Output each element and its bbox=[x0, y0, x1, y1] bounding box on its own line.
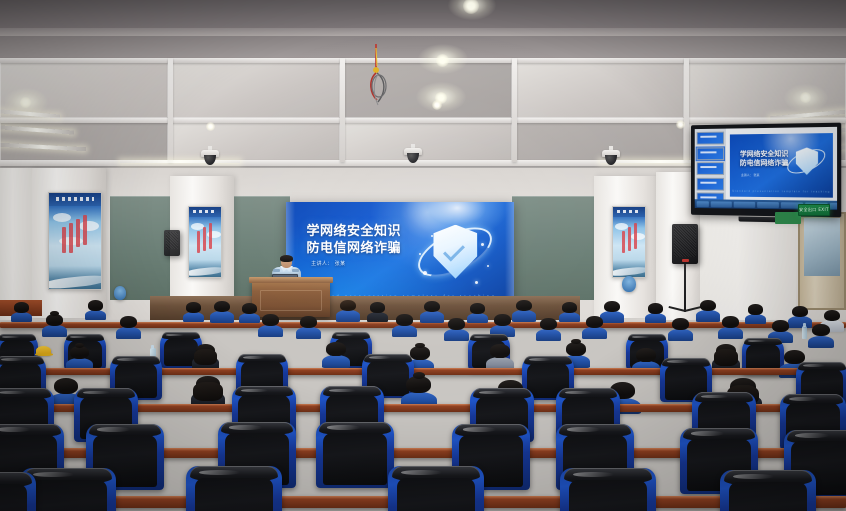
audience-member bbox=[792, 306, 808, 324]
poster-header-band bbox=[189, 207, 221, 217]
seat-highlight bbox=[97, 427, 130, 432]
audience-member bbox=[406, 376, 431, 403]
person-head bbox=[70, 346, 89, 359]
wall-poster-right-1 bbox=[612, 206, 646, 278]
poster-vertical-text bbox=[69, 223, 73, 253]
person-head bbox=[262, 314, 279, 326]
poster-vertical-text bbox=[203, 227, 206, 251]
tv-slide-title-line2: 防电信网络诈骗 bbox=[740, 159, 788, 168]
hanging-cable-bundle bbox=[366, 44, 390, 106]
person-shoulders bbox=[296, 327, 320, 339]
person-head bbox=[636, 348, 656, 362]
person-head bbox=[396, 314, 413, 326]
pa-speaker-right bbox=[672, 224, 698, 264]
yellow-hardhat bbox=[36, 346, 51, 355]
person-shoulders bbox=[42, 325, 66, 337]
person-head bbox=[46, 314, 63, 326]
poster-vertical-text bbox=[628, 227, 631, 251]
person-shoulders bbox=[392, 325, 416, 337]
auditorium-seat[interactable] bbox=[0, 472, 36, 511]
light-flare bbox=[418, 44, 468, 74]
audience-member bbox=[700, 300, 716, 318]
audience-member bbox=[812, 324, 830, 344]
person-head bbox=[340, 300, 356, 311]
person-head bbox=[716, 344, 736, 358]
spark-dot bbox=[431, 235, 433, 237]
audience-member bbox=[716, 344, 736, 366]
person-head bbox=[562, 302, 577, 313]
wall-poster-left-2 bbox=[188, 206, 222, 278]
poster-vertical-text bbox=[76, 219, 80, 247]
ceiling-rib bbox=[168, 58, 173, 162]
person-head bbox=[494, 314, 511, 326]
spark-dot bbox=[475, 281, 478, 284]
person-shoulders bbox=[85, 310, 107, 321]
person-head bbox=[410, 346, 430, 360]
poster-footer-art bbox=[49, 266, 101, 289]
audience-member bbox=[772, 320, 789, 339]
auditorium-photo-scene: 学网络安全知识 防电信网络诈骗 主讲人： 张某 Standard present… bbox=[0, 0, 846, 511]
person-head bbox=[14, 302, 29, 313]
person-shoulders bbox=[258, 325, 282, 337]
audience-member bbox=[540, 318, 557, 337]
audience-member bbox=[494, 314, 511, 333]
poster-vertical-text bbox=[634, 223, 637, 249]
auditorium-seat[interactable] bbox=[388, 466, 484, 511]
person-shoulders bbox=[444, 329, 468, 341]
person-head bbox=[566, 342, 586, 356]
seat-back-pad bbox=[729, 482, 808, 511]
poster-header-band bbox=[613, 207, 645, 217]
seat-back-pad bbox=[323, 433, 387, 485]
poster-cloud bbox=[53, 213, 71, 222]
audience-member bbox=[326, 342, 346, 364]
poster-header-band bbox=[49, 193, 101, 206]
person-shoulders bbox=[600, 311, 623, 322]
seat-highlight bbox=[789, 397, 817, 401]
person-shoulders bbox=[788, 316, 811, 327]
tv-slide-preview: 学网络安全知识 防电信网络诈骗 主讲人： 张某 Standard present… bbox=[730, 133, 833, 198]
slide-title-line2: 防电信网络诈骗 bbox=[307, 240, 402, 257]
seat-highlight bbox=[327, 425, 360, 430]
ceiling-coffer bbox=[172, 62, 340, 118]
speaker-brand-badge bbox=[682, 259, 689, 262]
poster-vertical-text bbox=[209, 223, 212, 249]
slide-presenter-label: 主讲人： 张某 bbox=[311, 260, 345, 267]
person-head bbox=[586, 316, 603, 328]
wall-poster-left-1 bbox=[48, 192, 102, 290]
person-head bbox=[792, 306, 808, 317]
check-icon bbox=[444, 239, 466, 261]
wall-wainscot-panel bbox=[512, 196, 598, 300]
person-head bbox=[214, 301, 230, 312]
person-head bbox=[490, 344, 510, 358]
auditorium-seat[interactable] bbox=[720, 470, 816, 511]
screen-edge-highlight bbox=[505, 202, 514, 306]
back-wall-left bbox=[0, 168, 32, 320]
person-shoulders bbox=[559, 312, 581, 323]
seat-highlight bbox=[0, 427, 30, 432]
seat-back-pad bbox=[29, 480, 108, 511]
tv-slide-footer: Standard presentation template for teach… bbox=[730, 190, 833, 194]
audience-member bbox=[586, 316, 603, 335]
person-head bbox=[242, 303, 257, 314]
door-glass-panel bbox=[804, 218, 840, 276]
seat-highlight bbox=[463, 427, 496, 432]
speaker-grille bbox=[166, 232, 178, 249]
person-shoulders bbox=[808, 336, 834, 348]
person-head bbox=[196, 344, 215, 357]
person-shoulders bbox=[336, 310, 359, 321]
seat-back-pad bbox=[0, 484, 27, 511]
audience-member bbox=[300, 316, 317, 335]
poster-badge-emblem bbox=[114, 286, 126, 300]
ptz-dome-security-camera bbox=[201, 146, 219, 166]
audience-member bbox=[648, 303, 663, 320]
ceiling-coffer bbox=[172, 122, 340, 162]
ceiling-downlight bbox=[206, 122, 215, 131]
slide-title: 学网络安全知识 防电信网络诈骗 bbox=[307, 223, 402, 257]
poster-cloud bbox=[79, 221, 99, 231]
person-head bbox=[540, 318, 557, 330]
seat-highlight bbox=[691, 431, 724, 436]
powerpoint-thumbnail-panel[interactable] bbox=[695, 129, 726, 209]
person-shoulders bbox=[645, 313, 667, 324]
audience-member bbox=[604, 301, 620, 319]
person-shoulders bbox=[512, 310, 535, 321]
doorway[interactable] bbox=[798, 212, 846, 310]
pa-speaker-left bbox=[164, 230, 180, 256]
person-head bbox=[196, 376, 220, 392]
poster-footer-art bbox=[613, 260, 645, 277]
audience-member bbox=[88, 300, 103, 317]
audience-member bbox=[516, 300, 532, 318]
audience-member bbox=[370, 302, 385, 319]
person-head bbox=[700, 300, 716, 311]
seat-back-pad bbox=[397, 478, 476, 511]
person-shoulders bbox=[467, 313, 489, 324]
light-flare bbox=[784, 84, 828, 112]
taskbar-item[interactable] bbox=[711, 201, 732, 207]
ptz-dome-security-camera bbox=[602, 146, 620, 166]
ceiling-coffer bbox=[516, 62, 684, 118]
audience-member bbox=[120, 316, 137, 335]
audience-member bbox=[70, 346, 89, 367]
person-head bbox=[120, 316, 137, 328]
person-head bbox=[370, 302, 385, 313]
person-head bbox=[772, 320, 789, 332]
slide-title-line1: 学网络安全知识 bbox=[307, 223, 402, 240]
audience-member bbox=[262, 314, 279, 333]
person-shoulders bbox=[696, 310, 719, 321]
ceiling-beam-front bbox=[0, 0, 846, 28]
taskbar-start-button[interactable] bbox=[697, 201, 709, 207]
audience-member bbox=[186, 302, 201, 319]
person-shoulders bbox=[668, 329, 692, 341]
person-head bbox=[748, 304, 763, 315]
person-head bbox=[326, 342, 346, 356]
auditorium-seat[interactable] bbox=[316, 422, 394, 488]
person-head bbox=[604, 301, 620, 312]
ptz-dome-security-camera bbox=[404, 144, 422, 164]
audience-member bbox=[672, 318, 689, 337]
exit-sign: 安全出口 EXIT bbox=[798, 204, 830, 216]
seat-back-pad bbox=[195, 478, 274, 511]
ceiling-downlight bbox=[676, 120, 685, 129]
spark-dot bbox=[487, 265, 489, 267]
poster-vertical-text bbox=[197, 231, 200, 253]
poster-vertical-text bbox=[62, 227, 66, 253]
audience-member bbox=[470, 303, 485, 320]
person-shoulders bbox=[183, 312, 205, 323]
person-shoulders bbox=[367, 312, 389, 323]
person-head bbox=[812, 324, 830, 336]
slide-thumbnail-selected[interactable] bbox=[697, 147, 725, 160]
person-head bbox=[406, 376, 431, 393]
audience-member bbox=[196, 344, 215, 365]
ceiling-rib bbox=[512, 58, 517, 162]
person-head bbox=[672, 318, 689, 330]
seat-highlight bbox=[567, 427, 600, 432]
speaker-grille bbox=[674, 226, 696, 257]
person-shoulders bbox=[745, 314, 767, 325]
poster-vertical-text bbox=[622, 231, 625, 253]
person-shoulders bbox=[210, 311, 233, 322]
slide-thumbnail[interactable] bbox=[697, 162, 725, 175]
person-shoulders bbox=[322, 355, 351, 369]
camera-dome-lens bbox=[407, 153, 420, 163]
ceiling-rib bbox=[0, 118, 846, 123]
presenter-epaulette-left bbox=[273, 269, 280, 272]
ceiling-coffer bbox=[516, 122, 684, 162]
audience-member bbox=[424, 301, 440, 319]
audience-member bbox=[748, 304, 763, 321]
person-head bbox=[824, 310, 840, 321]
tv-slide-title: 学网络安全知识 防电信网络诈骗 bbox=[740, 150, 788, 168]
wall-wainscot-panel bbox=[110, 196, 172, 300]
person-head bbox=[186, 302, 201, 313]
person-head bbox=[448, 318, 465, 330]
powerpoint-main-pane: 学网络安全知识 防电信网络诈骗 主讲人： 张某 Standard present… bbox=[726, 127, 837, 210]
ceiling-coffer bbox=[344, 122, 512, 162]
poster-badge-emblem bbox=[622, 276, 636, 292]
slide-thumbnail[interactable] bbox=[697, 132, 725, 145]
audience-member bbox=[14, 302, 29, 319]
audience-member bbox=[562, 302, 577, 319]
person-head bbox=[470, 303, 485, 314]
person-head bbox=[648, 303, 663, 314]
ceiling-rib bbox=[684, 58, 689, 162]
person-shoulders bbox=[239, 313, 261, 324]
shield-with-orbit-icon bbox=[417, 219, 493, 291]
poster-vertical-text bbox=[83, 215, 87, 245]
taskbar-item[interactable] bbox=[757, 201, 779, 207]
tv-screen: 学网络安全知识 防电信网络诈骗 主讲人： 张某 Standard present… bbox=[695, 127, 837, 210]
person-head bbox=[424, 301, 440, 312]
poster-cloud bbox=[615, 223, 628, 230]
taskbar-item[interactable] bbox=[734, 201, 755, 207]
camera-dome-lens bbox=[605, 155, 618, 165]
exit-sign-label: 安全出口 EXIT bbox=[799, 207, 829, 213]
ceiling-downlight bbox=[432, 100, 442, 110]
person-head bbox=[722, 316, 739, 328]
person-head bbox=[300, 316, 317, 328]
podium-top-surface bbox=[249, 277, 333, 283]
audience-member bbox=[722, 316, 739, 335]
water-bottle bbox=[802, 326, 807, 339]
poster-footer-art bbox=[189, 260, 221, 277]
seat-back-pad bbox=[569, 480, 648, 511]
person-head bbox=[54, 378, 78, 394]
person-shoulders bbox=[718, 327, 742, 339]
auditorium-seat[interactable] bbox=[186, 466, 282, 511]
audience-member bbox=[214, 301, 230, 319]
person-shoulders bbox=[11, 312, 33, 323]
audience-member bbox=[448, 318, 465, 337]
cable-svg bbox=[366, 44, 390, 106]
seat-highlight bbox=[229, 425, 262, 430]
person-shoulders bbox=[420, 311, 443, 322]
audience-member bbox=[242, 303, 257, 320]
audience-member bbox=[196, 376, 220, 402]
slide-thumbnail[interactable] bbox=[697, 177, 725, 190]
ceiling-rib bbox=[340, 58, 345, 162]
audience-member bbox=[396, 314, 413, 333]
camera-dome-lens bbox=[204, 155, 217, 165]
person-shoulders bbox=[116, 327, 140, 339]
person-shoulders bbox=[536, 329, 560, 341]
auditorium-seat[interactable] bbox=[560, 468, 656, 511]
ceiling-striplight bbox=[120, 160, 240, 163]
taskbar-tray[interactable] bbox=[830, 202, 837, 208]
audience-member bbox=[46, 314, 63, 333]
audience-member bbox=[340, 300, 356, 318]
person-head bbox=[88, 300, 103, 311]
presenter-epaulette-right bbox=[292, 269, 299, 272]
person-head bbox=[516, 300, 532, 311]
presenter-hair bbox=[280, 255, 293, 262]
person-shoulders bbox=[582, 327, 606, 339]
audience-member bbox=[636, 348, 656, 370]
tv-slide-presenter-label: 主讲人： 张某 bbox=[741, 173, 760, 177]
audience-member bbox=[490, 344, 510, 366]
audience-seating-area bbox=[0, 300, 846, 511]
